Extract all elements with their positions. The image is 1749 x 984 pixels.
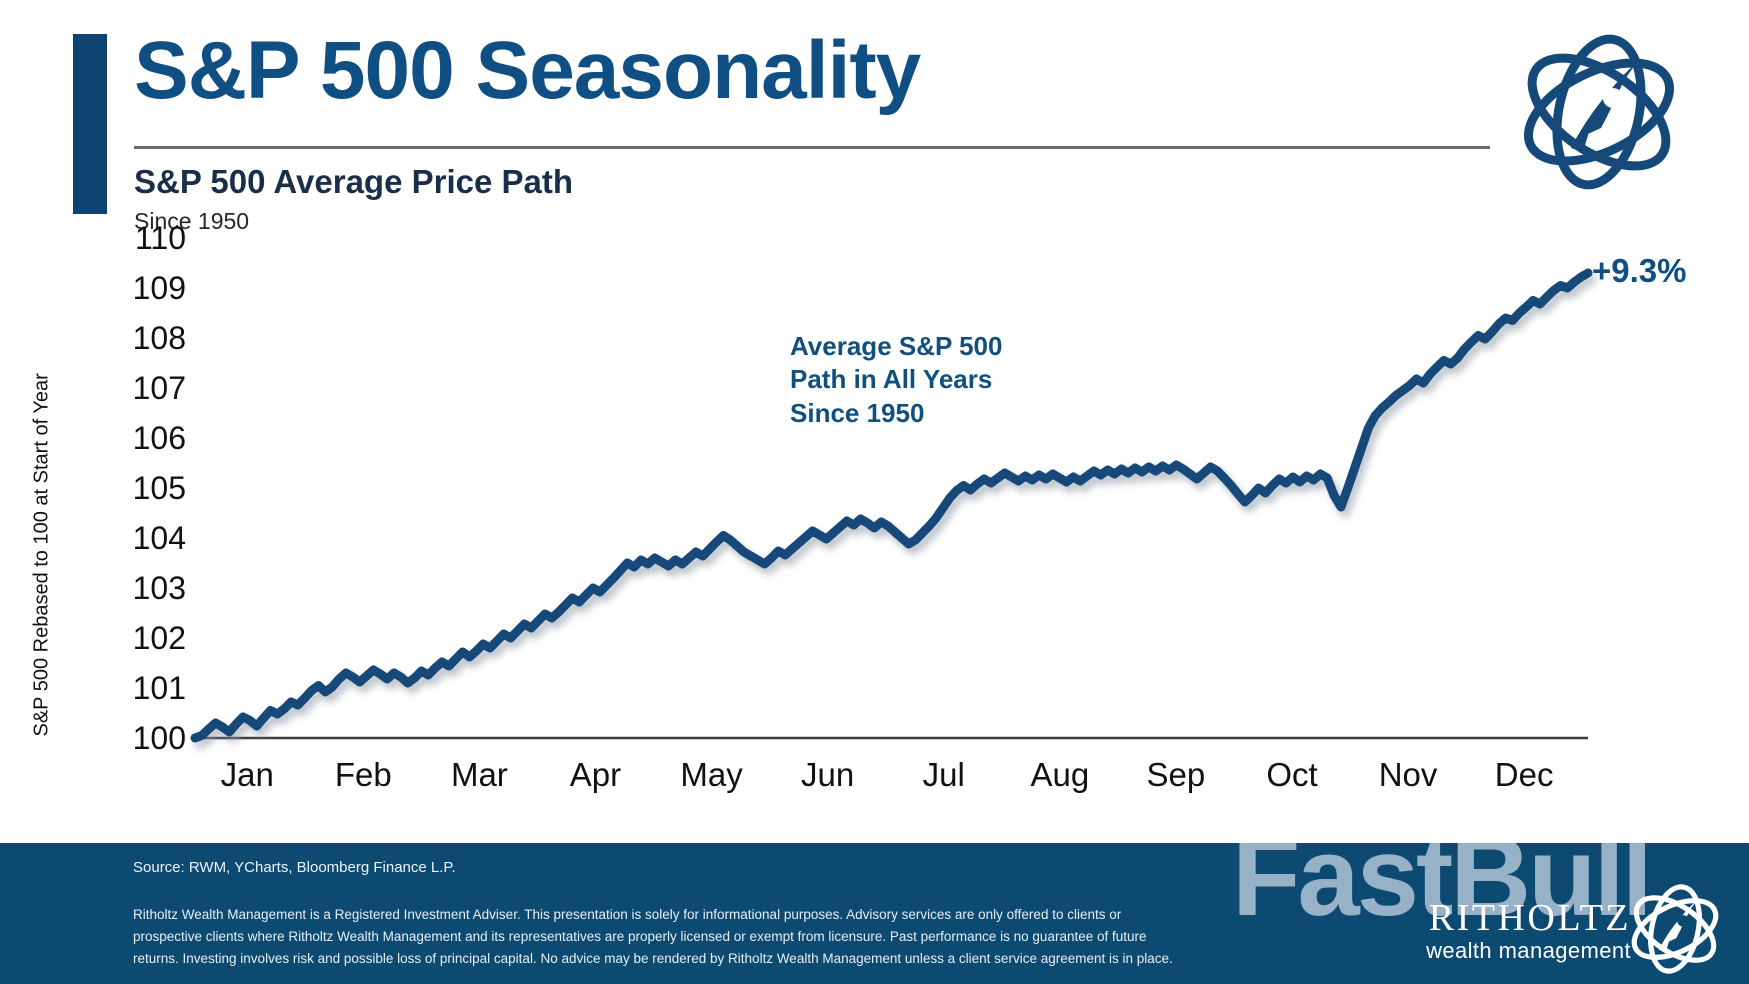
footer-logo-name: RITHOLTZ — [1426, 899, 1631, 937]
ritholtz-rocket-orbit-icon — [1623, 882, 1727, 976]
page-title: S&P 500 Seasonality — [134, 28, 920, 114]
endpoint-value-label: +9.3% — [1592, 252, 1687, 290]
price-path-plot — [0, 230, 1749, 820]
footer: FastBull Source: RWM, YCharts, Bloomberg… — [0, 843, 1749, 984]
annotation-line-3: Since 1950 — [790, 397, 1002, 430]
chart-annotation: Average S&P 500 Path in All Years Since … — [790, 330, 1002, 430]
footer-logo-text: RITHOLTZ wealth management — [1426, 899, 1631, 965]
header: S&P 500 Seasonality S&P 500 Average Pric… — [0, 0, 1749, 250]
chart-container: S&P 500 Rebased to 100 at Start of Year … — [0, 230, 1749, 820]
title-divider — [134, 146, 1490, 149]
footer-logo-tagline: wealth management — [1426, 937, 1631, 965]
disclaimer-text: Ritholtz Wealth Management is a Register… — [133, 904, 1193, 970]
chart-subtitle: S&P 500 Average Price Path — [134, 163, 573, 201]
annotation-line-2: Path in All Years — [790, 363, 1002, 396]
annotation-line-1: Average S&P 500 — [790, 330, 1002, 363]
ritholtz-rocket-orbit-icon — [1509, 32, 1689, 192]
accent-bar — [73, 34, 107, 214]
source-note: Source: RWM, YCharts, Bloomberg Finance … — [133, 859, 456, 876]
